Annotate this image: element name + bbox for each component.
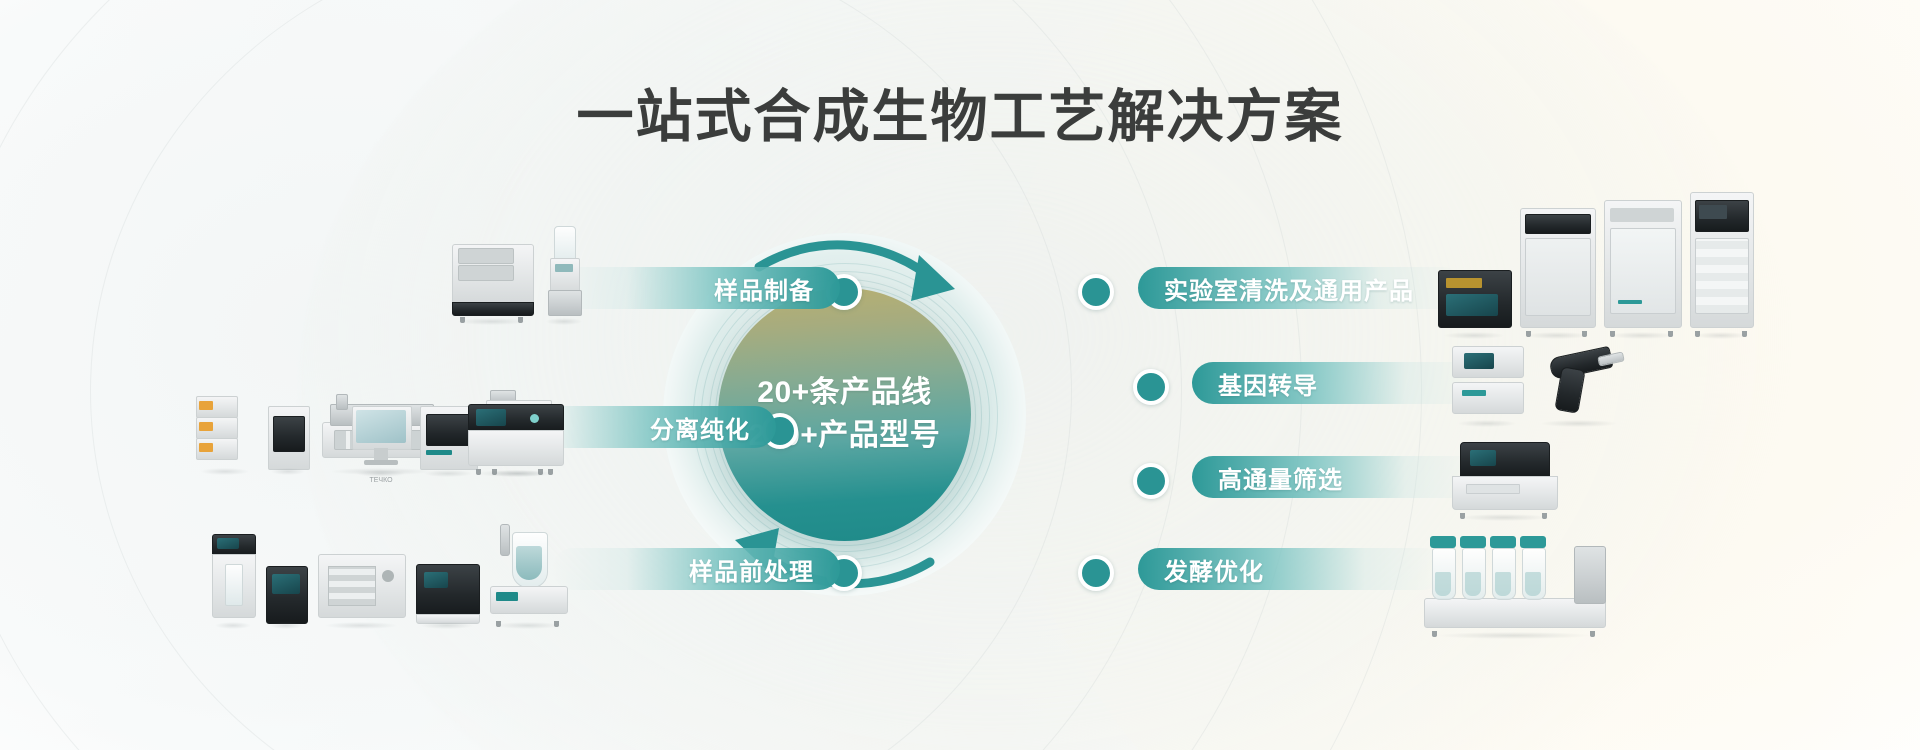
- equipment-group-fermentation: [1424, 528, 1604, 632]
- equipment-group-separation-chromatograph: [468, 398, 562, 470]
- category-label: 基因转导: [1218, 366, 1318, 401]
- equipment-group-gene-transduction: [1452, 340, 1624, 420]
- device-caption: ТЕЧКО: [322, 477, 440, 484]
- device-electroporator-top: [1452, 346, 1522, 420]
- device-prep-chromatograph: [468, 404, 562, 470]
- device-drying-cabinet: [1690, 192, 1752, 332]
- device-glassware-washer: [1520, 208, 1594, 332]
- category-label: 分离纯化: [650, 410, 750, 445]
- equipment-group-high-throughput: [1452, 438, 1556, 514]
- device-transfection-gun: [1534, 348, 1624, 420]
- equipment-group-sample-pretreatment: [212, 522, 566, 622]
- device-bead-beater: [416, 558, 478, 622]
- equipment-group-sample-prep: [452, 228, 586, 318]
- device-workstation-monitor: [352, 406, 410, 470]
- category-label: 高通量筛选: [1218, 460, 1343, 495]
- category-pill-lab-cleaning[interactable]: 实验室清洗及通用产品: [1138, 267, 1464, 309]
- device-freeze-dryer: [452, 234, 532, 318]
- node-dot-high-throughput[interactable]: [1133, 463, 1169, 499]
- category-pill-fermentation[interactable]: 发酵优化: [1138, 548, 1444, 590]
- node-dot-fermentation[interactable]: [1078, 555, 1114, 591]
- equipment-group-lab-cleaning: [1438, 196, 1752, 332]
- device-ultrasonic-homogenizer: [212, 534, 254, 622]
- device-column-oven: [268, 406, 308, 468]
- category-label: 样品前处理: [689, 552, 814, 587]
- category-pill-high-throughput[interactable]: 高通量筛选: [1192, 456, 1480, 498]
- node-dot-gene-transduction[interactable]: [1133, 369, 1169, 405]
- device-glass-reactor: [490, 524, 566, 622]
- device-benchtop-mill: [266, 566, 306, 622]
- category-pill-gene-transduction[interactable]: 基因转导: [1192, 362, 1480, 404]
- device-parallel-bioreactor: [1424, 534, 1604, 632]
- page-title: 一站式合成生物工艺解决方案: [0, 86, 1920, 149]
- category-pill-sample-prep[interactable]: 样品制备: [552, 267, 840, 309]
- node-dot-lab-cleaning[interactable]: [1078, 274, 1114, 310]
- category-pill-pretreatment[interactable]: 样品前处理: [552, 548, 840, 590]
- category-label: 实验室清洗及通用产品: [1164, 271, 1414, 306]
- device-hplc-stack: [196, 396, 254, 468]
- category-label: 发酵优化: [1164, 552, 1264, 587]
- category-label: 样品制备: [714, 271, 814, 306]
- device-plate-reader: [1452, 442, 1556, 514]
- device-lab-dishwasher: [1604, 200, 1680, 332]
- infographic-canvas: 一站式合成生物工艺解决方案 20+条产品线 200+产品型号 样品制备 分离纯化…: [0, 0, 1920, 750]
- device-lyophilizer-column: [542, 226, 586, 318]
- device-ultrasonic-cleaner: [1438, 270, 1510, 332]
- device-sample-grinder: [318, 554, 404, 622]
